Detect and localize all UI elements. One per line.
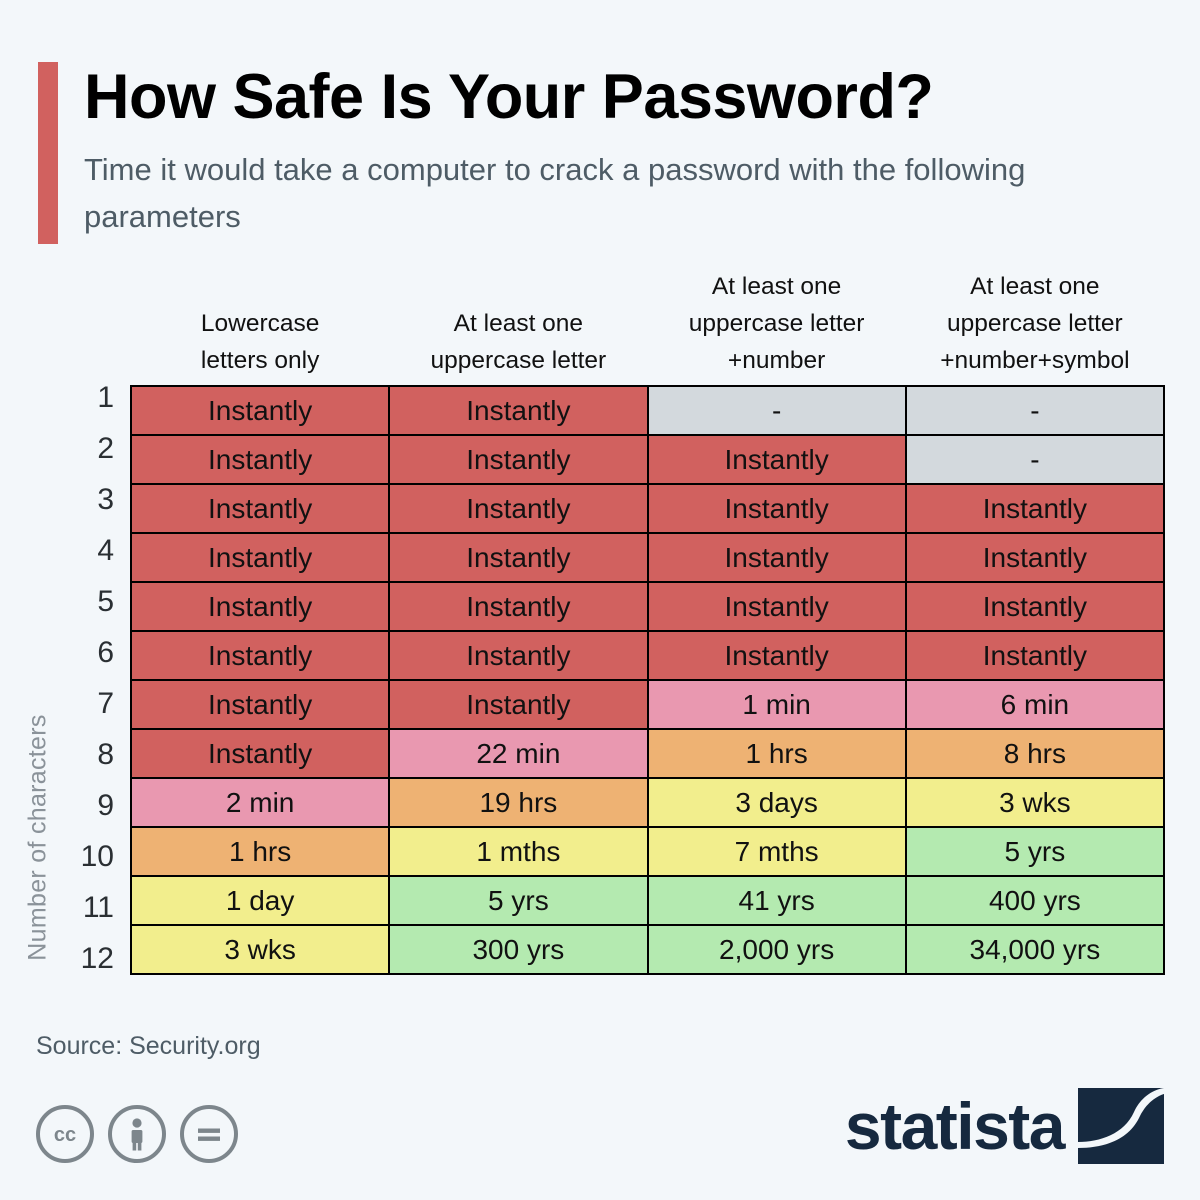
table-header: Lowercaseletters only At least oneupperc… [131,268,1164,386]
row-number-label: 4 [0,525,118,576]
cell-r1-c2: Instantly [389,386,647,435]
row-number-label: 10 [0,831,118,882]
cell-r4-c2: Instantly [389,533,647,582]
cc-icon[interactable]: cc [36,1105,94,1163]
cell-r3-c2: Instantly [389,484,647,533]
cell-r10-c2: 1 mths [389,827,647,876]
table-row: InstantlyInstantly1 min6 min [131,680,1164,729]
header-row: Lowercaseletters only At least oneupperc… [131,268,1164,386]
cell-r7-c4: 6 min [906,680,1164,729]
row-number-label: 2 [0,423,118,474]
cell-r6-c4: Instantly [906,631,1164,680]
cc-by-person-icon[interactable] [108,1105,166,1163]
cell-r8-c1: Instantly [131,729,389,778]
table-row: 1 hrs1 mths7 mths5 yrs [131,827,1164,876]
cell-r11-c1: 1 day [131,876,389,925]
cell-r12-c2: 300 yrs [389,925,647,974]
table-row: 3 wks300 yrs2,000 yrs34,000 yrs [131,925,1164,974]
row-number-label: 12 [0,933,118,984]
statista-wordmark: statista [845,1093,1064,1159]
cell-r9-c3: 3 days [648,778,906,827]
cell-r8-c2: 22 min [389,729,647,778]
cell-r1-c3: - [648,386,906,435]
cell-r5-c1: Instantly [131,582,389,631]
svg-text:cc: cc [54,1124,76,1146]
cell-r5-c3: Instantly [648,582,906,631]
row-number-label: 1 [0,372,118,423]
cell-r3-c1: Instantly [131,484,389,533]
cell-r6-c3: Instantly [648,631,906,680]
table-row: 2 min19 hrs3 days3 wks [131,778,1164,827]
cell-r2-c4: - [906,435,1164,484]
header: How Safe Is Your Password? Time it would… [38,60,1168,240]
page-title: How Safe Is Your Password? [38,60,1168,134]
accent-bar [38,62,58,244]
cell-r5-c4: Instantly [906,582,1164,631]
cell-r4-c3: Instantly [648,533,906,582]
table-row: InstantlyInstantlyInstantlyInstantly [131,631,1164,680]
table-row: InstantlyInstantlyInstantly- [131,435,1164,484]
cc-nd-equals-icon[interactable] [180,1105,238,1163]
cell-r12-c3: 2,000 yrs [648,925,906,974]
cell-r9-c1: 2 min [131,778,389,827]
cell-r2-c3: Instantly [648,435,906,484]
cell-r1-c4: - [906,386,1164,435]
page-subtitle: Time it would take a computer to crack a… [38,134,1168,240]
cell-r11-c4: 400 yrs [906,876,1164,925]
cell-r6-c2: Instantly [389,631,647,680]
column-header-1: Lowercaseletters only [131,268,389,386]
row-number-gutter: 123456789101112 [0,372,118,984]
table-row: Instantly22 min1 hrs8 hrs [131,729,1164,778]
cell-r11-c2: 5 yrs [389,876,647,925]
cell-r2-c2: Instantly [389,435,647,484]
cell-r9-c4: 3 wks [906,778,1164,827]
cell-r10-c4: 5 yrs [906,827,1164,876]
table-body: InstantlyInstantly--InstantlyInstantlyIn… [131,386,1164,974]
cell-r8-c4: 8 hrs [906,729,1164,778]
cell-r3-c3: Instantly [648,484,906,533]
cell-r11-c3: 41 yrs [648,876,906,925]
cell-r8-c3: 1 hrs [648,729,906,778]
cell-r1-c1: Instantly [131,386,389,435]
cell-r6-c1: Instantly [131,631,389,680]
table-row: InstantlyInstantlyInstantlyInstantly [131,533,1164,582]
creative-commons-icons: cc [36,1105,238,1163]
table-row: InstantlyInstantlyInstantlyInstantly [131,484,1164,533]
column-header-4: At least oneuppercase letter+number+symb… [906,268,1164,386]
statista-mark-icon [1078,1088,1164,1164]
statista-logo: statista [845,1088,1164,1164]
row-number-label: 8 [0,729,118,780]
cell-r7-c2: Instantly [389,680,647,729]
heatmap-table: Lowercaseletters only At least oneupperc… [130,268,1165,975]
row-number-label: 9 [0,780,118,831]
column-header-3: At least oneuppercase letter+number [648,268,906,386]
cell-r4-c1: Instantly [131,533,389,582]
cell-r9-c2: 19 hrs [389,778,647,827]
row-number-label: 5 [0,576,118,627]
cell-r2-c1: Instantly [131,435,389,484]
cell-r5-c2: Instantly [389,582,647,631]
row-number-label: 6 [0,627,118,678]
table-row: InstantlyInstantly-- [131,386,1164,435]
cell-r4-c4: Instantly [906,533,1164,582]
table-row: 1 day5 yrs41 yrs400 yrs [131,876,1164,925]
row-number-label: 11 [0,882,118,933]
column-header-2: At least oneuppercase letter [389,268,647,386]
cell-r12-c4: 34,000 yrs [906,925,1164,974]
row-number-label: 3 [0,474,118,525]
cell-r10-c3: 7 mths [648,827,906,876]
cell-r3-c4: Instantly [906,484,1164,533]
source-note: Source: Security.org [36,1032,261,1061]
table-row: InstantlyInstantlyInstantlyInstantly [131,582,1164,631]
cell-r7-c1: Instantly [131,680,389,729]
row-number-label: 7 [0,678,118,729]
cell-r7-c3: 1 min [648,680,906,729]
cell-r12-c1: 3 wks [131,925,389,974]
cell-r10-c1: 1 hrs [131,827,389,876]
